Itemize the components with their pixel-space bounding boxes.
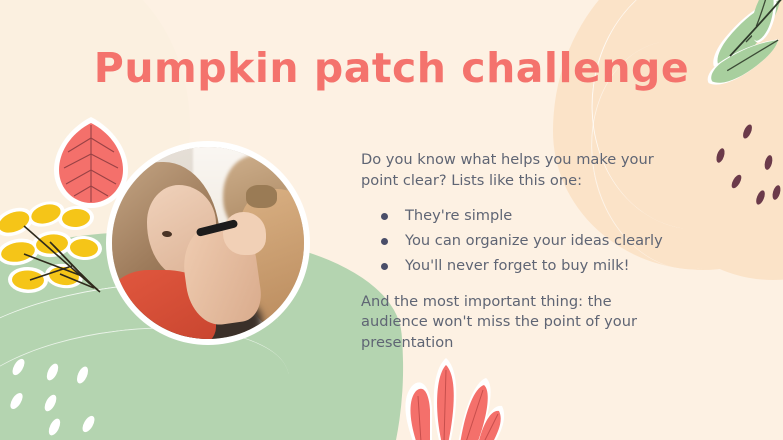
list-item-label: They're simple	[405, 207, 512, 224]
photo-frame	[106, 141, 310, 345]
list-item: You can organize your ideas clearly	[381, 231, 679, 252]
list-item: They're simple	[381, 206, 679, 227]
slide-canvas: Pumpkin patch challenge Do you know what…	[0, 0, 783, 440]
photo-pumpkin-stem	[246, 185, 277, 208]
pumpkin-carving-photo	[112, 147, 304, 339]
yellow-branch-leaves-icon	[0, 196, 112, 302]
list-item-label: You can organize your ideas clearly	[405, 232, 663, 249]
photo-girl-hand	[223, 212, 265, 254]
bullet-list: They're simple You can organize your ide…	[361, 206, 679, 276]
list-item: You'll never forget to buy milk!	[381, 256, 679, 277]
bullet-dot-icon	[381, 238, 388, 245]
body-text-block: Do you know what helps you make your poi…	[361, 150, 679, 354]
bullet-dot-icon	[381, 213, 388, 220]
bullet-dot-icon	[381, 263, 388, 270]
slide-title: Pumpkin patch challenge	[0, 44, 783, 92]
closing-paragraph: And the most important thing: the audien…	[361, 292, 679, 354]
coral-fan-leaf-icon	[388, 348, 508, 440]
list-item-label: You'll never forget to buy milk!	[405, 257, 630, 274]
intro-paragraph: Do you know what helps you make your poi…	[361, 150, 679, 191]
